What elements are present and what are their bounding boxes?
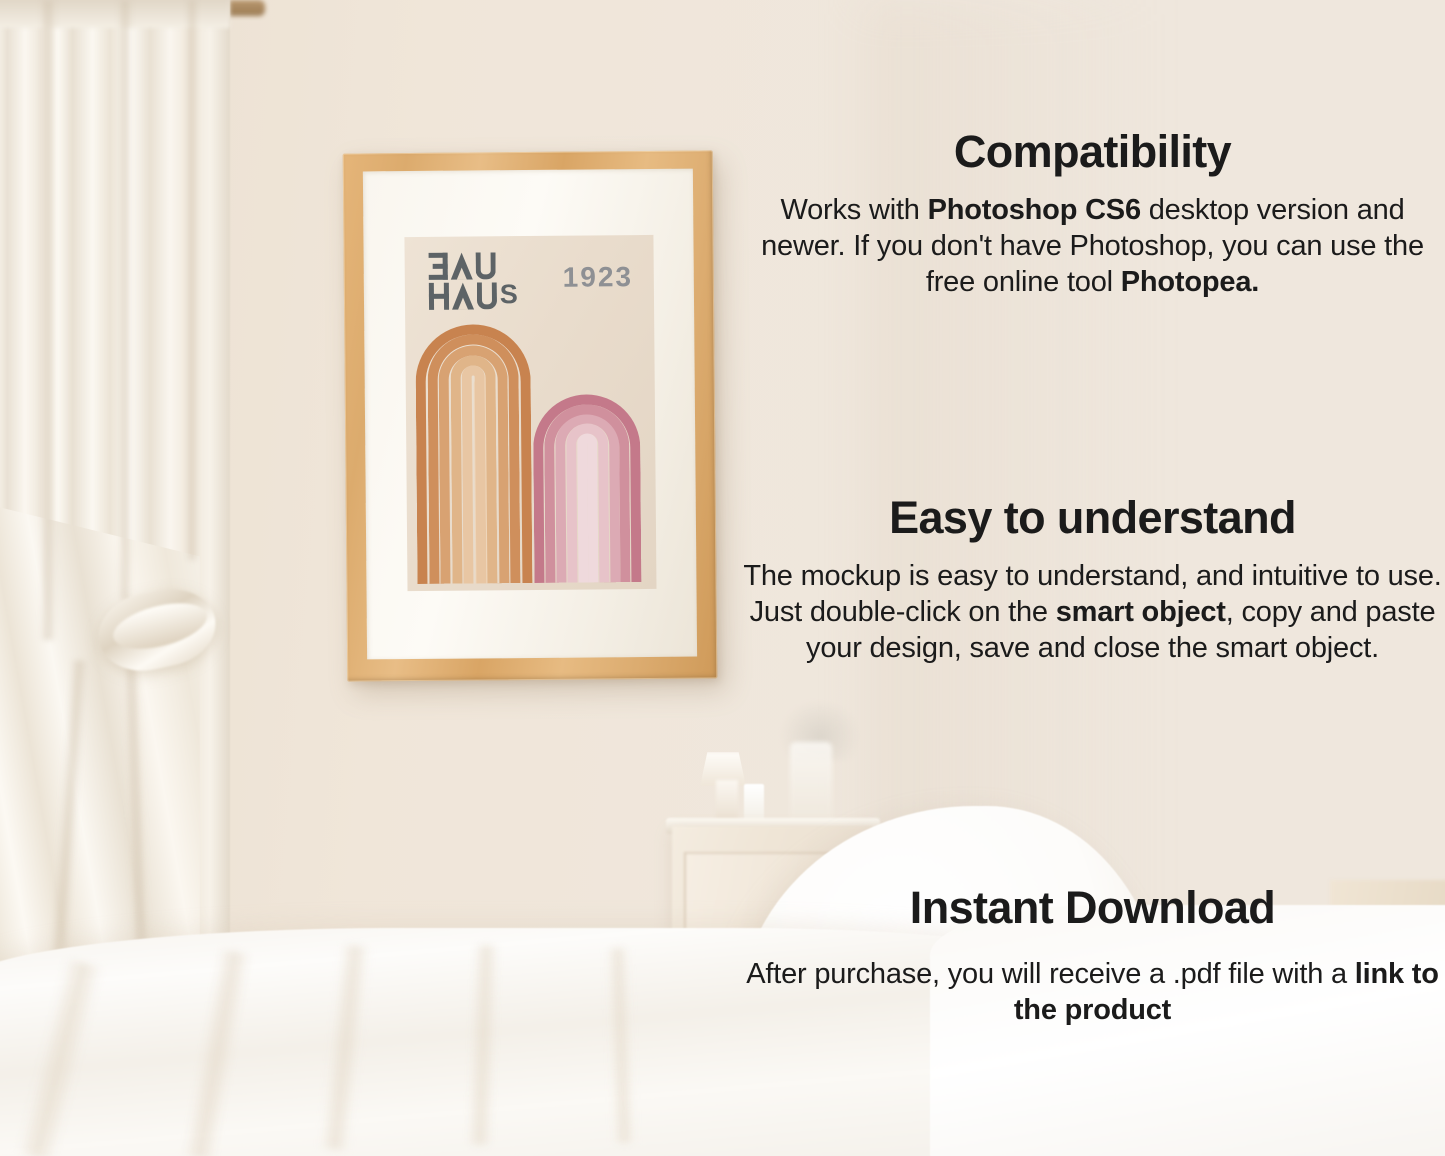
glyph-u xyxy=(475,252,495,279)
instant-heading: Instant Download xyxy=(740,884,1445,931)
glyph-h xyxy=(429,282,449,309)
glyph-triangle-a xyxy=(450,252,472,279)
poster-bauhaus-wordmark: S BAU HAUS xyxy=(428,252,518,310)
easy-body: The mockup is easy to understand, and in… xyxy=(740,559,1445,667)
glyph-reversed-b xyxy=(428,252,447,279)
section-compatibility: Compatibility Works with Photoshop CS6 d… xyxy=(740,128,1445,301)
section-instant-download: Instant Download After purchase, you wil… xyxy=(740,884,1445,1029)
poster-year: 1923 xyxy=(563,262,634,295)
poster-title-line-2: S xyxy=(429,282,519,310)
frame-mat-board: S BAU HAUS 1923 xyxy=(363,169,697,660)
glyph-s: S xyxy=(500,282,519,309)
orange-arch-band-1 xyxy=(415,324,532,583)
poster-title-line-1 xyxy=(428,252,518,280)
easy-heading: Easy to understand xyxy=(740,494,1445,541)
pink-arch-band-1 xyxy=(533,394,642,582)
curtain-gathered-lower xyxy=(0,500,200,970)
compatibility-body: Works with Photoshop CS6 desktop version… xyxy=(740,193,1445,301)
section-easy-to-understand: Easy to understand The mockup is easy to… xyxy=(740,494,1445,667)
bauhaus-poster-artwork: S BAU HAUS 1923 xyxy=(405,235,657,591)
marketing-text-layer: Compatibility Works with Photoshop CS6 d… xyxy=(740,0,1445,1156)
glyph-triangle-a-2 xyxy=(452,282,474,309)
instant-body: After purchase, you will receive a .pdf … xyxy=(740,957,1445,1029)
compatibility-heading: Compatibility xyxy=(740,128,1445,175)
picture-frame: S BAU HAUS 1923 xyxy=(343,150,718,681)
glyph-u-2 xyxy=(477,282,497,309)
